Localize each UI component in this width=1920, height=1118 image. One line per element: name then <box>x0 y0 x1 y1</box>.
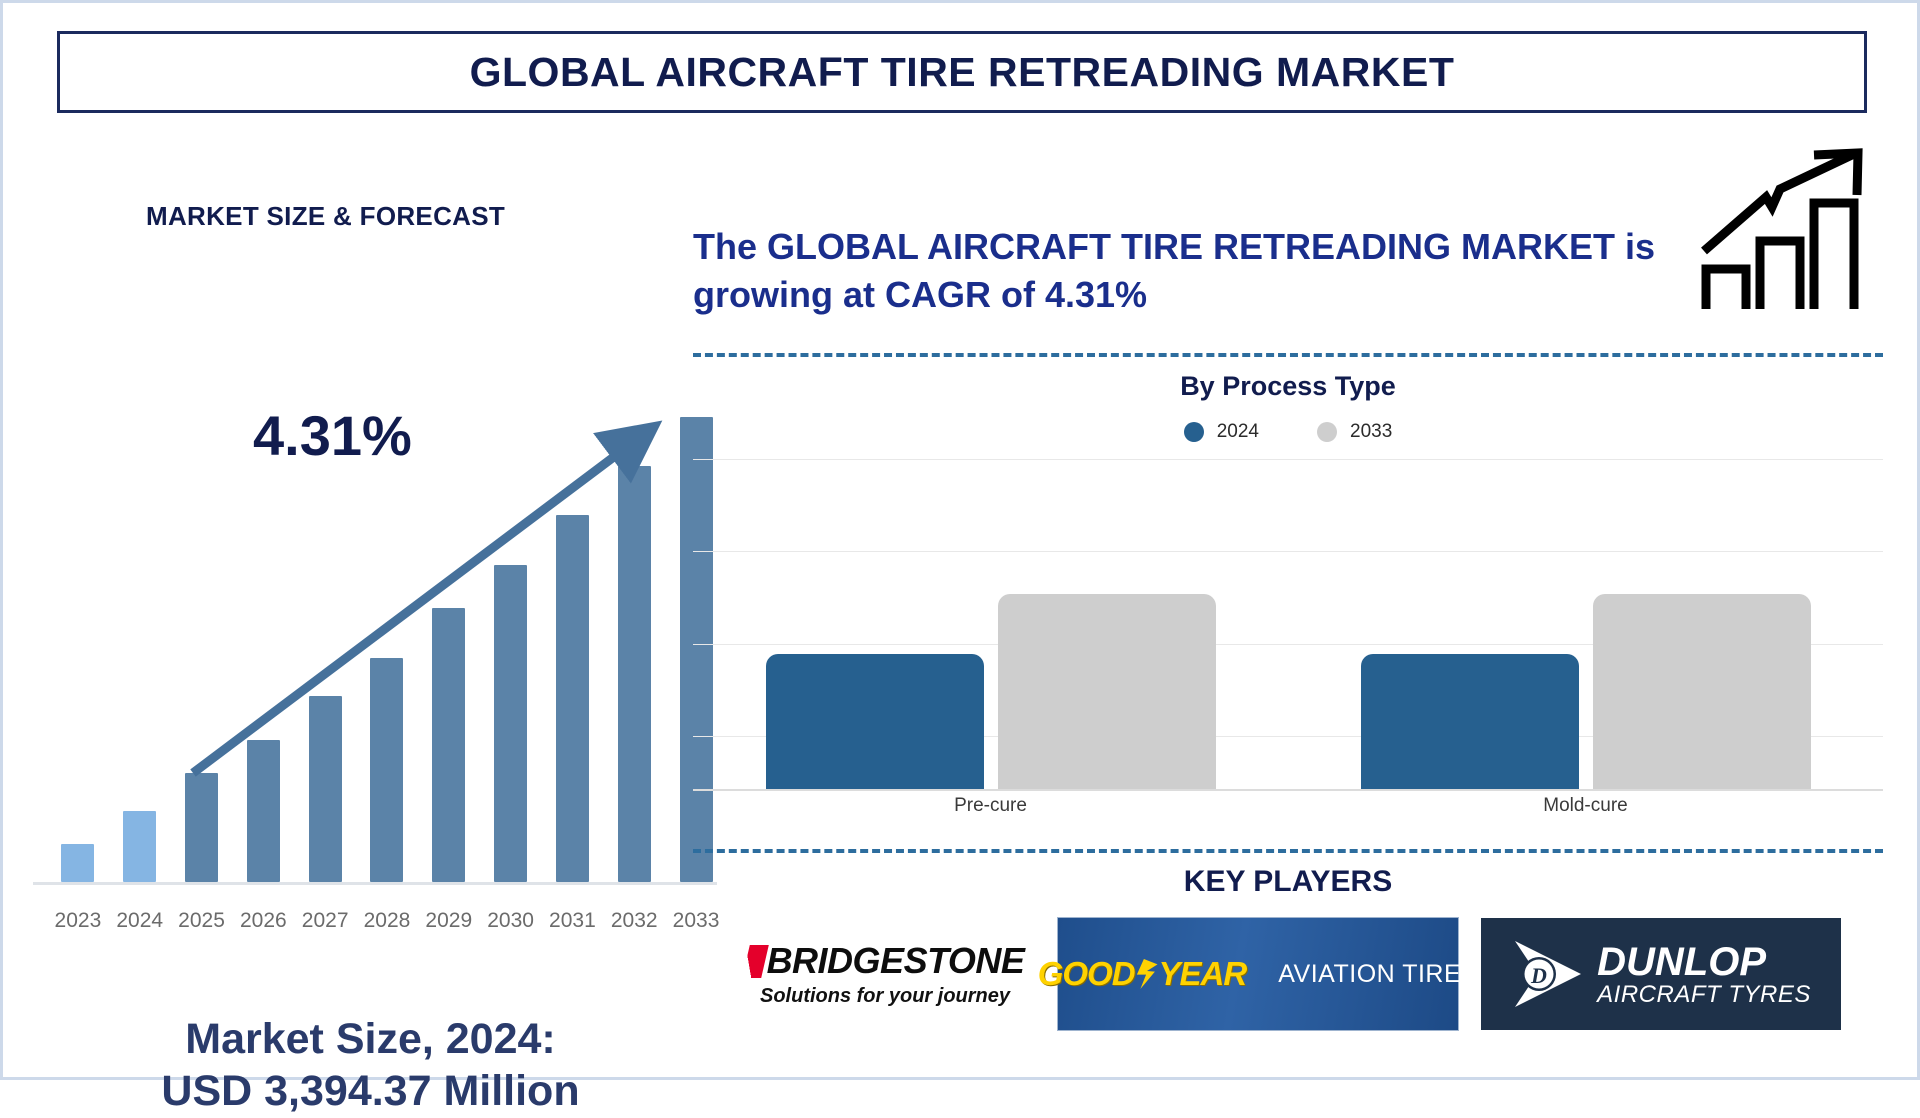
goodyear-tagline: AVIATION TIRES <box>1278 960 1478 989</box>
market-size-bar <box>247 740 280 882</box>
goodyear-logo: GOODYEAR AVIATION TIRES <box>1057 917 1459 1031</box>
market-size-line-1: Market Size, 2024: <box>3 1013 738 1065</box>
page-title-box: GLOBAL AIRCRAFT TIRE RETREADING MARKET <box>57 31 1867 113</box>
goodyear-winged-foot-icon <box>1136 959 1158 989</box>
market-size-bar-chart: 2023202420252026202720282029203020312032… <box>33 333 713 973</box>
legend-label: 2024 <box>1217 421 1259 443</box>
legend-item: 2033 <box>1317 421 1392 443</box>
process-type-bar <box>1361 654 1579 789</box>
process-type-category-labels: Pre-cureMold-cure <box>693 795 1883 817</box>
process-type-bars <box>693 459 1883 789</box>
bridgestone-tagline: Solutions for your journey <box>760 985 1010 1008</box>
bar-slot <box>47 382 109 882</box>
market-size-forecast-heading: MARKET SIZE & FORECAST <box>146 201 505 232</box>
year-label: 2025 <box>171 909 233 933</box>
bridgestone-wordmark: BRIDGESTONE <box>746 940 1025 982</box>
bar-slot <box>356 382 418 882</box>
dunlop-wordmark: DUNLOP <box>1597 942 1766 982</box>
year-label: 2029 <box>418 909 480 933</box>
bar-slot <box>232 382 294 882</box>
goodyear-wordmark-text-2: YEAR <box>1159 955 1247 993</box>
svg-text:D: D <box>1530 963 1547 988</box>
bar-slot <box>480 382 542 882</box>
growth-chart-arrow-icon <box>1688 141 1888 316</box>
year-label: 2032 <box>603 909 665 933</box>
bar-group <box>693 459 1288 789</box>
dunlop-d-arrow-icon: D <box>1511 937 1585 1011</box>
bridgestone-mark-icon <box>742 945 769 978</box>
year-label: 2031 <box>542 909 604 933</box>
category-label: Pre-cure <box>693 795 1288 817</box>
process-type-bar <box>1593 594 1811 789</box>
market-size-bars <box>47 382 727 882</box>
market-size-bar <box>123 811 156 882</box>
segment-title: By Process Type <box>693 371 1883 402</box>
bridgestone-logo: BRIDGESTONE Solutions for your journey <box>735 916 1035 1032</box>
divider-bottom <box>693 849 1883 853</box>
year-label: 2028 <box>356 909 418 933</box>
year-label: 2027 <box>294 909 356 933</box>
cagr-headline: The GLOBAL AIRCRAFT TIRE RETREADING MARK… <box>693 223 1678 318</box>
year-label: 2026 <box>232 909 294 933</box>
bar-group <box>1288 459 1883 789</box>
year-label: 2024 <box>109 909 171 933</box>
market-size-year-labels: 2023202420252026202720282029203020312032… <box>47 909 727 933</box>
process-type-bar-chart: Pre-cureMold-cure <box>693 459 1883 819</box>
market-size-bar <box>494 565 527 882</box>
year-label: 2030 <box>480 909 542 933</box>
bar-slot <box>603 382 665 882</box>
market-size-bar <box>556 515 589 882</box>
market-size-bar <box>370 658 403 882</box>
market-size-bar <box>618 466 651 882</box>
market-size-value: Market Size, 2024: USD 3,394.37 Million <box>3 1013 738 1118</box>
goodyear-wordmark-text-1: GOOD <box>1038 955 1135 993</box>
bar-slot <box>294 382 356 882</box>
goodyear-wordmark: GOODYEAR <box>1038 955 1247 993</box>
bar-slot <box>418 382 480 882</box>
right-panel: The GLOBAL AIRCRAFT TIRE RETREADING MARK… <box>693 123 1920 1083</box>
key-players-logos: BRIDGESTONE Solutions for your journey G… <box>693 915 1883 1033</box>
dunlop-logo: D DUNLOP AIRCRAFT TYRES <box>1481 918 1841 1030</box>
key-players-title: KEY PLAYERS <box>693 865 1883 899</box>
market-size-bar <box>309 696 342 882</box>
page-title: GLOBAL AIRCRAFT TIRE RETREADING MARKET <box>470 49 1455 96</box>
bar-slot <box>542 382 604 882</box>
bar-slot <box>171 382 233 882</box>
year-label: 2023 <box>47 909 109 933</box>
market-size-bar <box>185 773 218 882</box>
bridgestone-wordmark-text: BRIDGESTONE <box>767 940 1025 982</box>
process-type-bar <box>998 594 1216 789</box>
market-size-bar <box>432 608 465 882</box>
legend-item: 2024 <box>1184 421 1259 443</box>
legend-label: 2033 <box>1350 421 1392 443</box>
bar-slot <box>109 382 171 882</box>
process-chart-baseline <box>693 789 1883 791</box>
divider-top <box>693 353 1883 357</box>
infographic-page: GLOBAL AIRCRAFT TIRE RETREADING MARKET M… <box>0 0 1920 1080</box>
chart-legend: 20242033 <box>693 421 1883 443</box>
legend-color-swatch <box>1317 422 1337 442</box>
legend-color-swatch <box>1184 422 1204 442</box>
market-size-bar <box>61 844 94 882</box>
process-type-bar <box>766 654 984 789</box>
market-size-forecast-panel: MARKET SIZE & FORECAST 4.31% 20232024202… <box>3 123 738 1063</box>
market-size-line-2: USD 3,394.37 Million <box>3 1065 738 1117</box>
dunlop-text-block: DUNLOP AIRCRAFT TYRES <box>1597 942 1811 1007</box>
dunlop-tagline: AIRCRAFT TYRES <box>1597 983 1811 1007</box>
category-label: Mold-cure <box>1288 795 1883 817</box>
chart-baseline <box>33 882 717 885</box>
